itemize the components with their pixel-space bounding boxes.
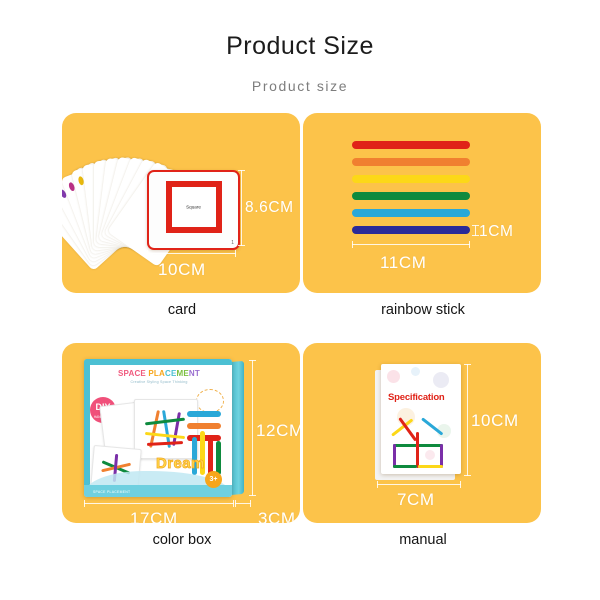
box-front-panel: SPACE PLACEMENT Creative Styling Space T…	[84, 359, 232, 497]
box-title-part: SPACE	[118, 369, 148, 378]
box-depth-line	[235, 503, 251, 504]
box-top-band	[84, 359, 232, 365]
manual-width-line	[377, 484, 461, 485]
stick-yellow	[352, 175, 470, 183]
manual-width-label: 7CM	[397, 490, 435, 510]
card-height-label: 8.6CM	[245, 199, 294, 217]
decor-dot-icon	[411, 367, 420, 376]
box-depth-label: 3CM	[258, 509, 296, 523]
stick-red	[352, 141, 470, 149]
color-box-graphic: SPACE PLACEMENT Creative Styling Space T…	[74, 359, 246, 499]
house-illustration	[391, 416, 451, 468]
card-width-label: 10CM	[158, 260, 206, 280]
stick-green	[352, 192, 470, 200]
square-card-label: Square	[186, 204, 201, 209]
page-title: Product Size	[0, 32, 600, 61]
panel-cell-manual: Specification 10CM	[303, 343, 543, 548]
box-card-art	[134, 399, 198, 459]
box-side-panel	[231, 361, 244, 495]
decor-dot-icon	[433, 372, 449, 388]
box-width-line	[84, 503, 234, 504]
square-outline: Square	[166, 181, 222, 233]
decor-dot-icon	[387, 370, 400, 383]
box-left-band	[84, 359, 90, 497]
stick-indigo	[352, 226, 470, 234]
box-pill	[187, 423, 221, 429]
caption-rainbow-stick: rainbow stick	[303, 302, 543, 318]
panel-manual: Specification 10CM	[303, 343, 541, 523]
box-brand-text: SPACE PLACEMENT	[93, 490, 130, 494]
box-height-line	[252, 360, 253, 496]
age-badge: 3+	[205, 471, 222, 488]
stick-thickness-label: 1CM	[479, 223, 514, 241]
box-title-part: ME	[177, 369, 189, 378]
manual-front-page: Specification	[381, 364, 461, 474]
box-subtitle: Creative Styling Space Thinking	[104, 380, 214, 384]
box-title-part: NT	[189, 369, 200, 378]
panel-rainbow-stick: 1CM 11CM	[303, 113, 541, 293]
manual-height-label: 10CM	[471, 411, 519, 431]
panel-cell-rainbow-stick: 1CM 11CM rainbow stick	[303, 113, 543, 318]
card-width-line	[147, 253, 236, 254]
box-pill	[187, 411, 221, 417]
box-title: SPACE PLACEMENT	[101, 369, 217, 378]
box-width-label: 17CM	[130, 509, 178, 523]
page-subtitle: Product size	[0, 78, 600, 94]
square-card-number: 1	[231, 240, 234, 246]
stick-thickness-line	[475, 225, 476, 236]
panel-grid: Square 1 8.6CM 10CM card 1	[0, 113, 600, 583]
panel-card: Square 1 8.6CM 10CM	[62, 113, 300, 293]
caption-manual: manual	[303, 532, 543, 548]
caption-color-box: color box	[62, 532, 302, 548]
box-height-label: 12CM	[256, 421, 300, 441]
panel-color-box: SPACE PLACEMENT Creative Styling Space T…	[62, 343, 300, 523]
dream-word: Dream	[156, 455, 205, 472]
card-height-line	[241, 170, 242, 246]
box-title-part: PLA	[148, 369, 165, 378]
caption-card: card	[62, 302, 302, 318]
stick-blue	[352, 209, 470, 217]
manual-title: Specification	[388, 392, 445, 403]
box-title-part: CE	[165, 369, 177, 378]
manual-height-line	[467, 364, 468, 476]
square-card: Square 1	[147, 170, 240, 250]
stick-orange	[352, 158, 470, 166]
box-decor-badge-icon	[196, 389, 224, 413]
stick-length-label: 11CM	[380, 253, 427, 273]
product-size-page: Product Size Product size	[0, 0, 600, 600]
panel-cell-color-box: SPACE PLACEMENT Creative Styling Space T…	[62, 343, 302, 548]
panel-cell-card: Square 1 8.6CM 10CM card	[62, 113, 302, 318]
stick-length-line	[352, 244, 470, 245]
